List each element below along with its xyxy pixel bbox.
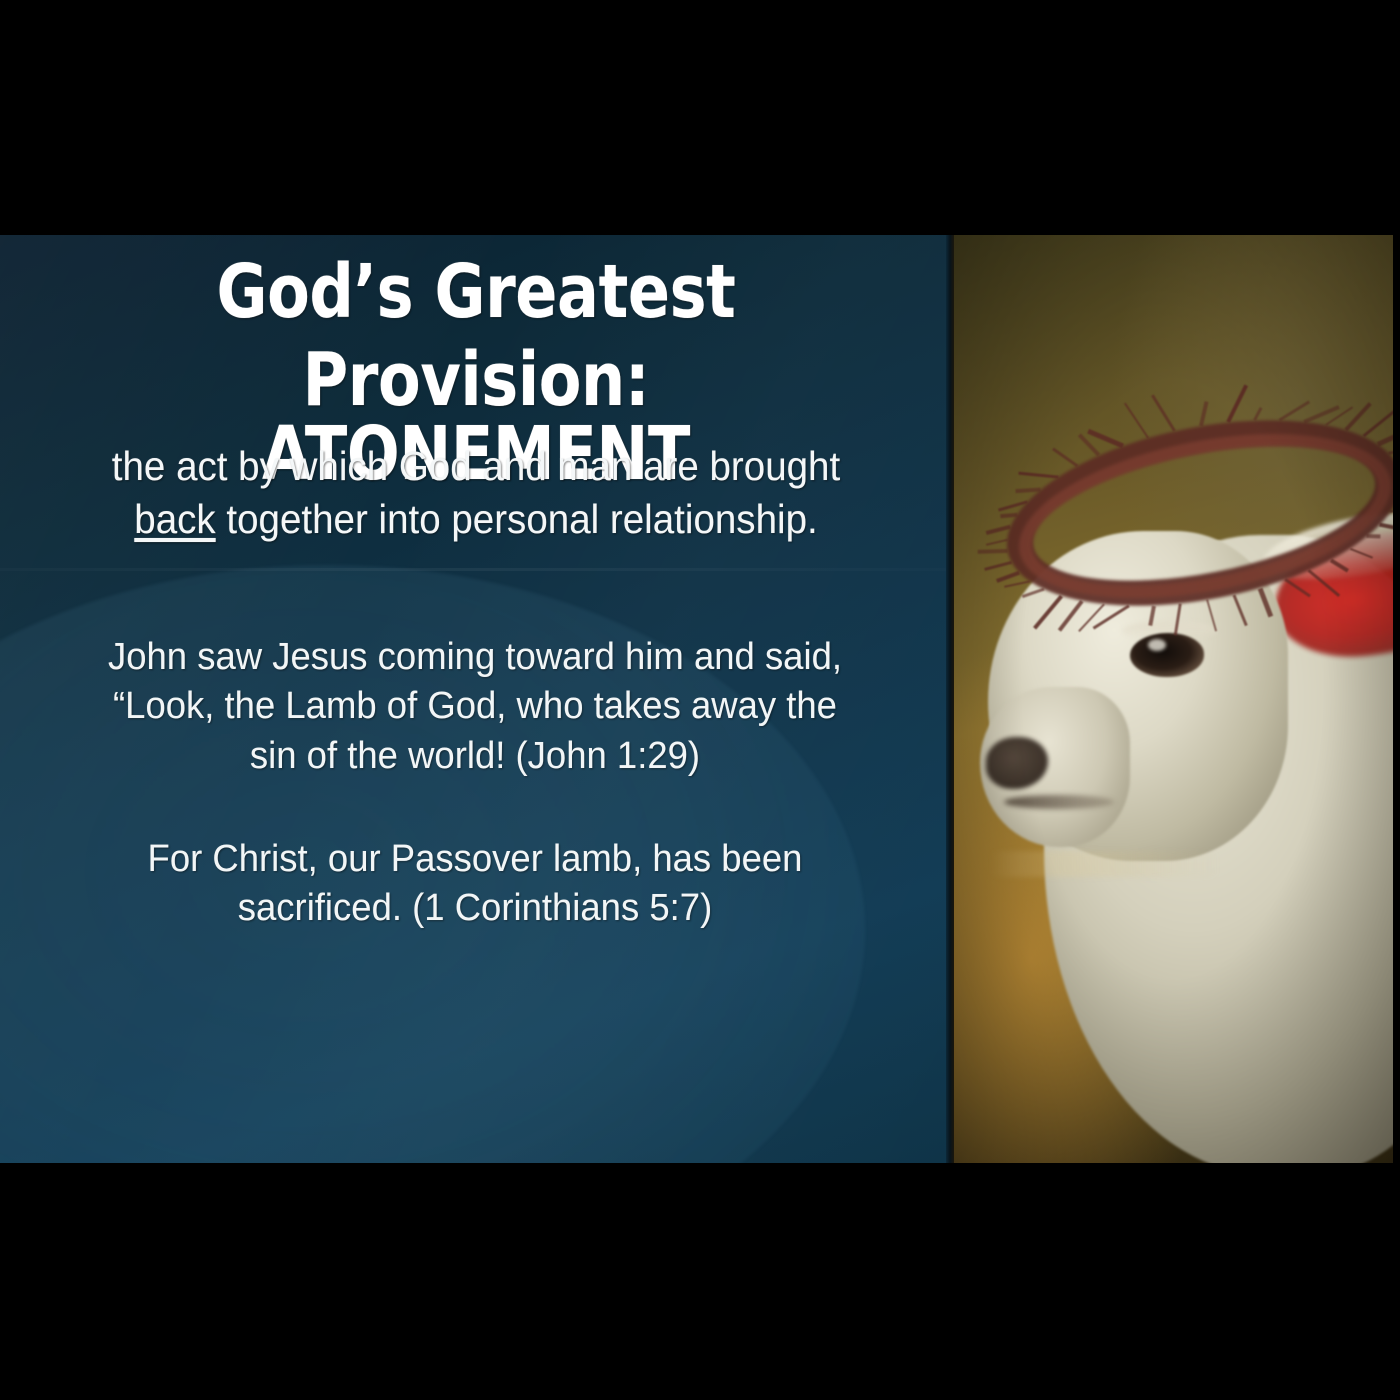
slide-title-line-1: God’s Greatest [83,255,869,329]
photo-vignette [952,235,1393,1163]
letterbox-top [0,0,1400,235]
subtitle-remainder: together into personal relationship. [216,496,818,542]
scripture-quote-john: John saw Jesus coming toward him and sai… [96,633,854,781]
letterbox-bottom [0,1163,1400,1400]
slide-right-edge [1393,235,1400,1163]
subtitle-underlined-word: back [134,496,215,542]
slide-text-content: God’s Greatest Provision: ATONEMENT the … [0,235,952,1163]
lamb-with-crown-of-thorns-image [952,235,1393,1163]
slide-viewer: God’s Greatest Provision: ATONEMENT the … [0,0,1400,1400]
slide-subtitle-line-2: back together into personal relationship… [42,493,911,546]
presentation-slide: God’s Greatest Provision: ATONEMENT the … [0,235,1400,1163]
slide-subtitle-line-1: the act by which God and man are brought [42,440,911,493]
scripture-quote-corinthians: For Christ, our Passover lamb, has been … [96,835,854,934]
panel-photo-divider [946,235,954,1163]
